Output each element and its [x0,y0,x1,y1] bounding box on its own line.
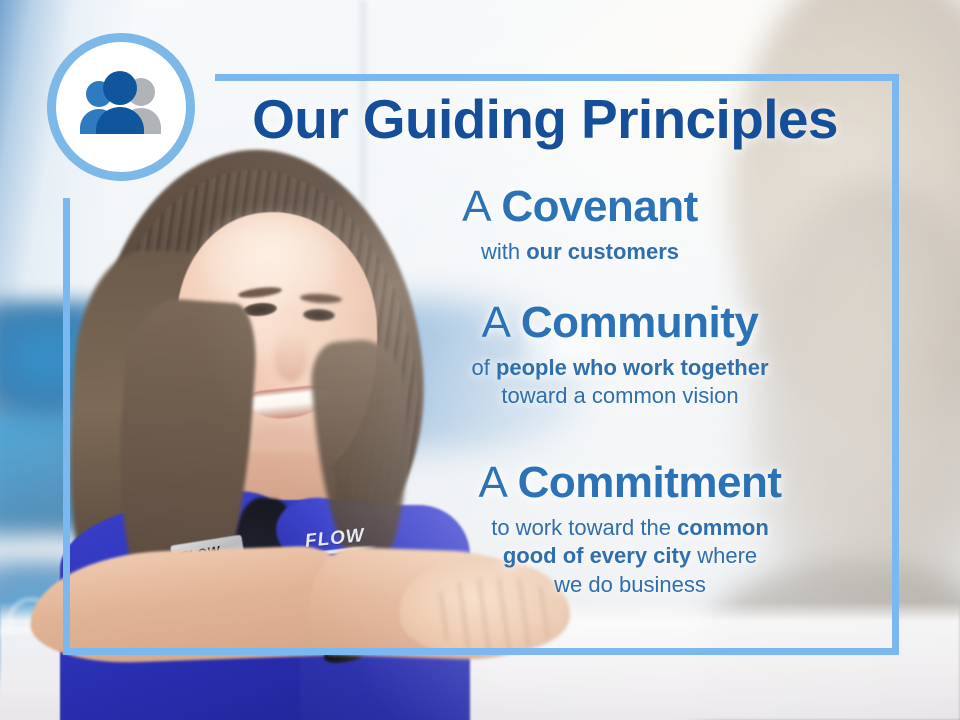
principle-keyword: Community [521,298,759,347]
principle-covenant-subtext: with our customers [300,238,860,267]
subtext-emphasis: people who work together [496,355,769,380]
subtext-plain: to work toward the [491,515,677,540]
page-title: Our Guiding Principles [215,92,875,147]
principle-subtext-line: good of every city where [350,542,910,571]
principle-subtext-line: of people who work together [340,354,900,383]
frame-border-left [63,198,70,655]
people-group-icon [73,70,169,144]
frame-border-bottom [63,648,899,655]
subtext-emphasis: common [677,515,769,540]
principle-article: A [478,458,517,507]
associate-nose [274,330,308,382]
subtext-plain: toward a common vision [501,383,738,408]
subtext-plain: we do business [554,572,706,597]
principle-keyword: Covenant [501,182,697,231]
guiding-principles-graphic: FLOW AUTOMOTIVE FLOW Our Guiding [0,0,960,720]
principle-subtext-line: toward a common vision [340,382,900,411]
principle-commitment-title: A Commitment [350,460,910,507]
principle-covenant-title: A Covenant [300,184,860,231]
principle-community-subtext: of people who work togethertoward a comm… [340,354,900,411]
principle-commitment-subtext: to work toward the commongood of every c… [350,514,910,600]
subtext-plain: with [481,239,526,264]
subtext-plain: where [691,543,757,568]
subtext-emphasis: good of every city [503,543,691,568]
principle-subtext-line: with our customers [300,238,860,267]
subtext-plain: of [471,355,495,380]
subtext-emphasis: our customers [526,239,679,264]
principle-subtext-line: we do business [350,571,910,600]
frame-border-top [215,74,899,81]
principle-article: A [462,182,501,231]
principle-covenant: A Covenant with our customers [300,184,860,266]
principle-keyword: Commitment [518,458,782,507]
principle-commitment: A Commitment to work toward the commongo… [350,460,910,599]
principle-community-title: A Community [340,300,900,347]
people-badge [47,33,195,181]
principle-community: A Community of people who work togethert… [340,300,900,411]
principle-article: A [482,298,521,347]
principle-subtext-line: to work toward the common [350,514,910,543]
